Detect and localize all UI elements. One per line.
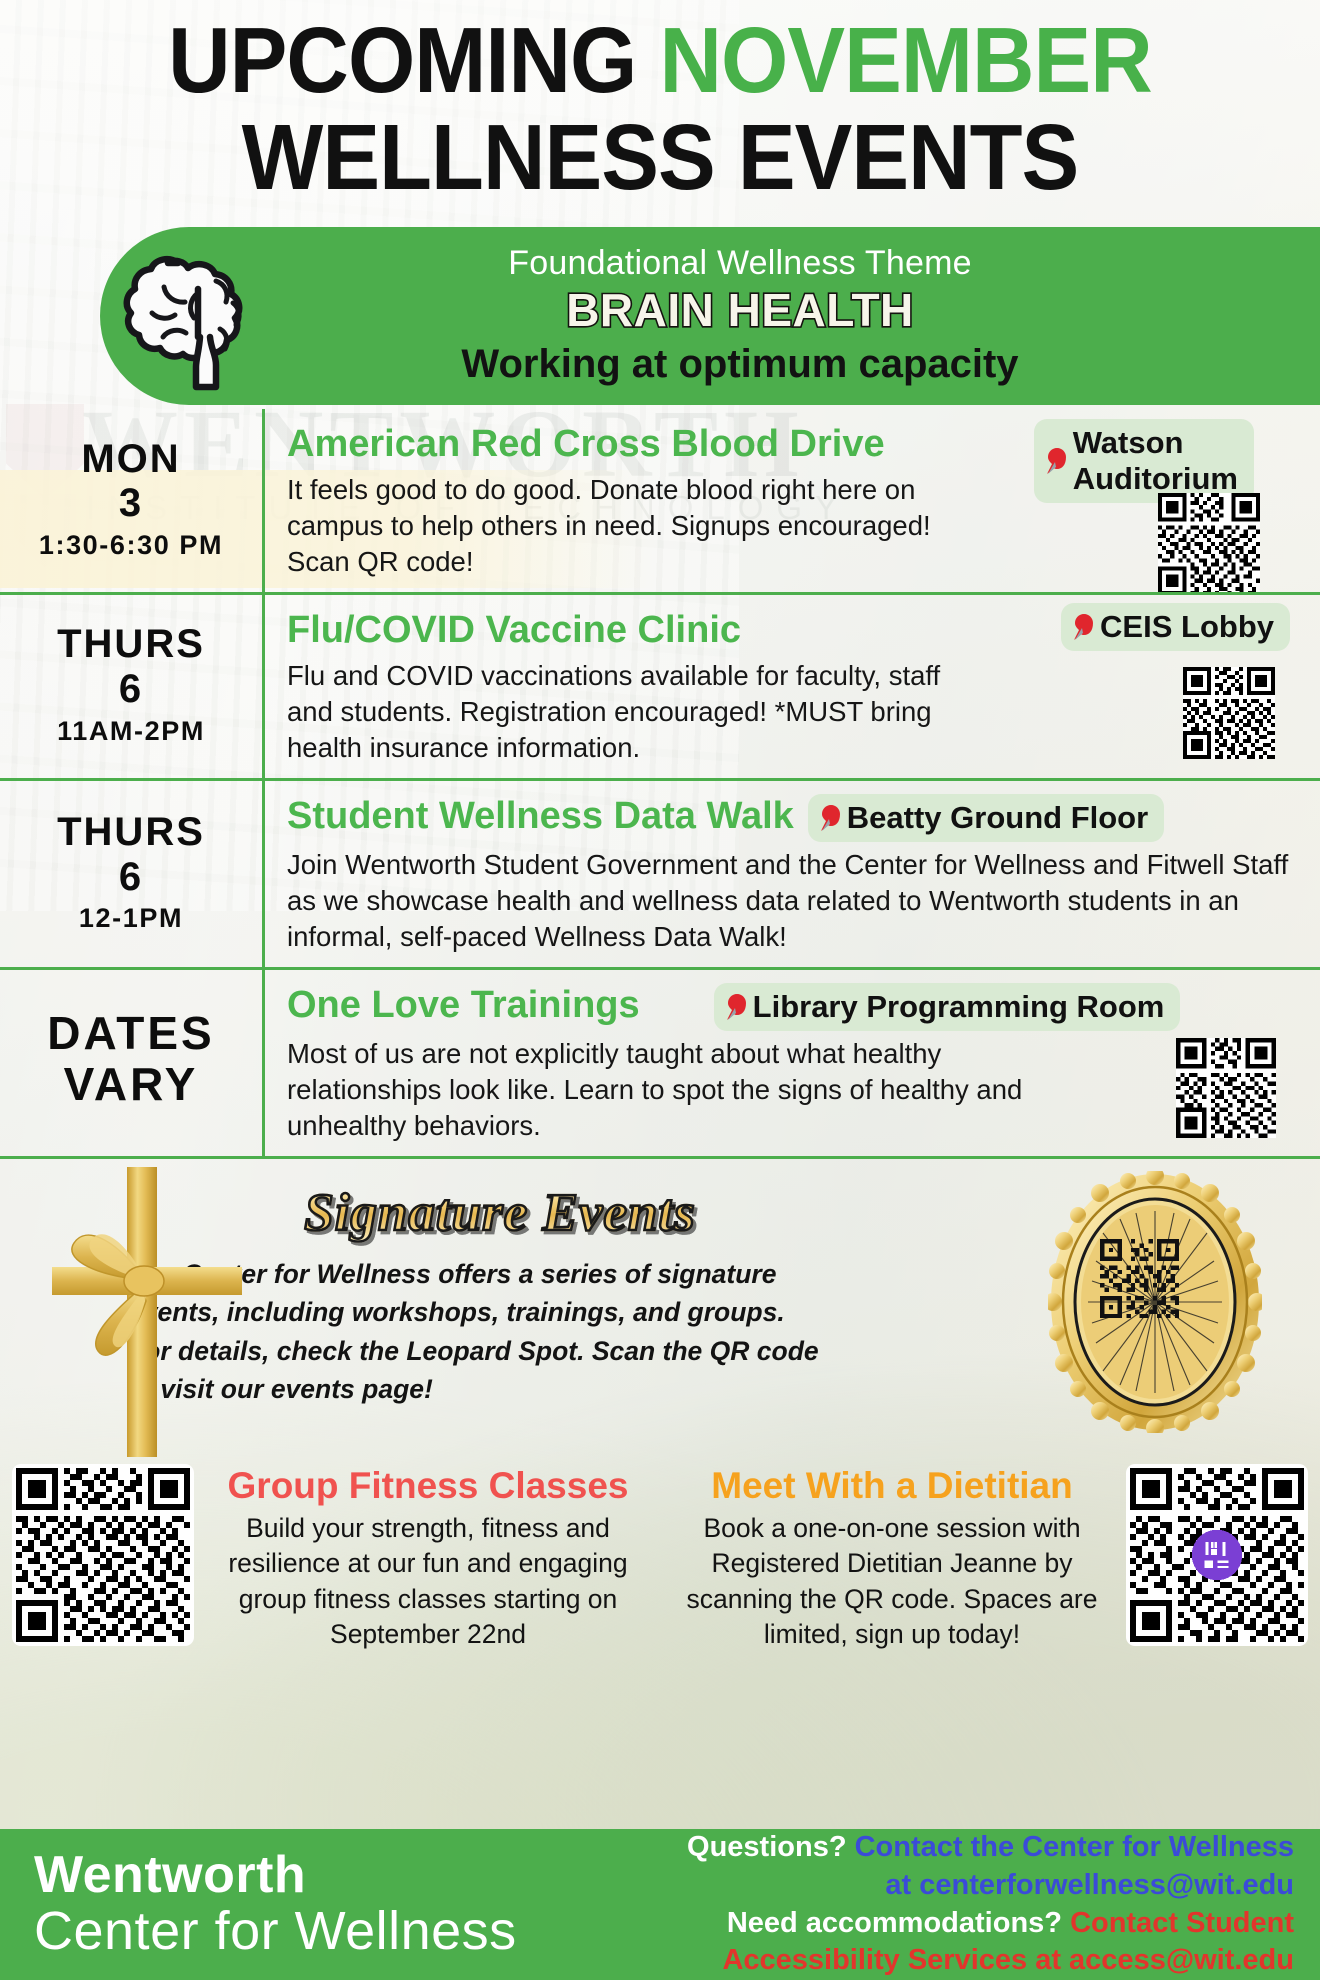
event-body-cell: American Red Cross Blood Drive It feels … xyxy=(262,409,1320,592)
dietitian-qr-code[interactable] xyxy=(1126,1464,1308,1646)
page-title: UPCOMING NOVEMBER WELLNESS EVENTS xyxy=(46,12,1274,205)
theme-eyebrow: Foundational Wellness Theme xyxy=(310,245,1170,282)
poster-header: UPCOMING NOVEMBER WELLNESS EVENTS xyxy=(0,0,1320,205)
event-day-of-week: DATES xyxy=(47,1008,215,1060)
footer-questions-label: Questions? xyxy=(687,1831,855,1863)
footer-brand: Wentworth Center for Wellness xyxy=(0,1848,620,1962)
event-body-cell: Flu/COVID Vaccine Clinic Flu and COVID v… xyxy=(262,595,1320,778)
page-title-part1: UPCOMING xyxy=(168,8,659,112)
footer-questions-email[interactable]: at centerforwellness@wit.edu xyxy=(620,1867,1294,1905)
footer-brand-line1: Wentworth xyxy=(34,1848,620,1903)
event-time: 11AM-2PM xyxy=(57,716,205,747)
signature-events-heading: Signature Events xyxy=(130,1169,870,1243)
event-description: Join Wentworth Student Government and th… xyxy=(287,847,1297,955)
event-day-of-week: THURS xyxy=(57,622,205,667)
event-title-line: Student Wellness Data Walk Beatty Ground… xyxy=(287,794,1302,842)
brain-icon xyxy=(116,241,294,391)
event-day-of-week: THURS xyxy=(57,810,205,855)
event-body-cell: One Love Trainings Library Programming R… xyxy=(262,970,1320,1156)
footer-questions-line: Questions? Contact the Center for Wellne… xyxy=(620,1829,1294,1867)
event-description: Flu and COVID vaccinations available for… xyxy=(287,658,987,766)
theme-title: BRAIN HEALTH xyxy=(310,282,1170,340)
table-row: MON 3 1:30-6:30 PM American Red Cross Bl… xyxy=(0,409,1320,592)
event-date-cell: MON 3 1:30-6:30 PM xyxy=(0,409,262,592)
event-description: Most of us are not explicitly taught abo… xyxy=(287,1036,1027,1144)
event-day-number: 3 xyxy=(119,481,143,526)
theme-text-block: Foundational Wellness Theme BRAIN HEALTH… xyxy=(310,245,1320,388)
map-pin-icon xyxy=(1071,612,1097,642)
event-day-number: 6 xyxy=(119,855,143,900)
qr-code-graphic xyxy=(1176,1038,1276,1138)
event-body-cell: Student Wellness Data Walk Beatty Ground… xyxy=(262,781,1320,967)
event-location-badge: CEIS Lobby xyxy=(1061,603,1290,651)
footer-contact-block: Questions? Contact the Center for Wellne… xyxy=(620,1829,1320,1980)
card-title: Group Fitness Classes xyxy=(208,1464,648,1508)
table-row: DATES VARY One Love Trainings Library Pr… xyxy=(0,967,1320,1156)
card-description: Build your strength, fitness and resilie… xyxy=(208,1511,648,1653)
event-title-line: One Love Trainings Library Programming R… xyxy=(287,983,1302,1031)
foundational-theme-banner: Foundational Wellness Theme BRAIN HEALTH… xyxy=(100,227,1320,405)
event-title: Student Wellness Data Walk xyxy=(287,794,794,839)
event-day-number: 6 xyxy=(119,667,143,712)
table-row: THURS 6 11AM-2PM Flu/COVID Vaccine Clini… xyxy=(0,592,1320,778)
event-location-badge: Library Programming Room xyxy=(714,983,1181,1031)
card-title: Meet With a Dietitian xyxy=(672,1464,1112,1508)
program-cards: Group Fitness Classes Build your strengt… xyxy=(0,1452,1320,1658)
map-pin-icon xyxy=(1044,446,1070,476)
page-title-highlight: NOVEMBER xyxy=(660,8,1152,112)
qr-code-graphic xyxy=(16,1468,190,1642)
card-dietitian: Meet With a Dietitian Book a one-on-one … xyxy=(660,1458,1320,1658)
event-location-text: Watson Auditorium xyxy=(1073,425,1238,497)
poster-page: UPCOMING NOVEMBER WELLNESS EVENTS xyxy=(0,0,1320,1980)
qr-code-graphic xyxy=(1158,493,1260,595)
event-qr-code[interactable] xyxy=(1183,667,1275,759)
event-title: Flu/COVID Vaccine Clinic xyxy=(287,608,741,653)
event-title: One Love Trainings xyxy=(287,983,640,1028)
event-time: 12-1PM xyxy=(79,903,183,934)
footer-accommodations-label: Need accommodations? xyxy=(727,1907,1070,1939)
brain-icon-wrap xyxy=(100,241,310,391)
map-pin-icon xyxy=(724,992,750,1022)
footer-questions-link[interactable]: Contact the Center for Wellness xyxy=(855,1831,1294,1863)
card-group-fitness: Group Fitness Classes Build your strengt… xyxy=(0,1458,660,1658)
footer-accommodations-line: Need accommodations? Contact Student xyxy=(620,1905,1294,1943)
event-description: It feels good to do good. Donate blood r… xyxy=(287,472,947,580)
event-time: 1:30-6:30 PM xyxy=(39,530,223,561)
group-fitness-qr-code[interactable] xyxy=(12,1464,194,1646)
page-title-line2: WELLNESS EVENTS xyxy=(46,109,1274,206)
signature-events-section: Signature Events The Center for Wellness… xyxy=(0,1156,1320,1452)
event-title: American Red Cross Blood Drive xyxy=(287,422,885,467)
event-location-text: Beatty Ground Floor xyxy=(847,800,1148,836)
footer-bar: Wentworth Center for Wellness Questions?… xyxy=(0,1829,1320,1980)
events-table: MON 3 1:30-6:30 PM American Red Cross Bl… xyxy=(0,409,1320,1156)
card-text: Group Fitness Classes Build your strengt… xyxy=(208,1464,648,1652)
qr-code-graphic xyxy=(1130,1468,1304,1642)
event-date-cell: THURS 6 11AM-2PM xyxy=(0,595,262,778)
event-location-badge: Watson Auditorium xyxy=(1034,419,1254,503)
theme-subtitle: Working at optimum capacity xyxy=(310,340,1170,388)
footer-accommodations-link[interactable]: Contact Student xyxy=(1070,1907,1294,1939)
footer-accommodations-email[interactable]: Accessibility Services at access@wit.edu xyxy=(620,1942,1294,1980)
event-location-text: Library Programming Room xyxy=(753,989,1165,1025)
event-location-text: CEIS Lobby xyxy=(1100,609,1274,645)
event-day-number: VARY xyxy=(64,1059,199,1111)
event-date-cell: THURS 6 12-1PM xyxy=(0,781,262,967)
card-description: Book a one-on-one session with Registere… xyxy=(672,1511,1112,1653)
gold-medal-qr-seal-icon[interactable] xyxy=(1048,1171,1262,1433)
event-qr-code[interactable] xyxy=(1158,493,1260,595)
card-text: Meet With a Dietitian Book a one-on-one … xyxy=(672,1464,1112,1652)
event-location-badge: Beatty Ground Floor xyxy=(808,794,1164,842)
footer-brand-line2: Center for Wellness xyxy=(34,1902,620,1961)
event-qr-code[interactable] xyxy=(1176,1038,1276,1138)
event-date-cell: DATES VARY xyxy=(0,970,262,1156)
table-row: THURS 6 12-1PM Student Wellness Data Wal… xyxy=(0,778,1320,967)
map-pin-icon xyxy=(818,803,844,833)
event-day-of-week: MON xyxy=(81,437,180,482)
qr-code-graphic xyxy=(1183,667,1275,759)
